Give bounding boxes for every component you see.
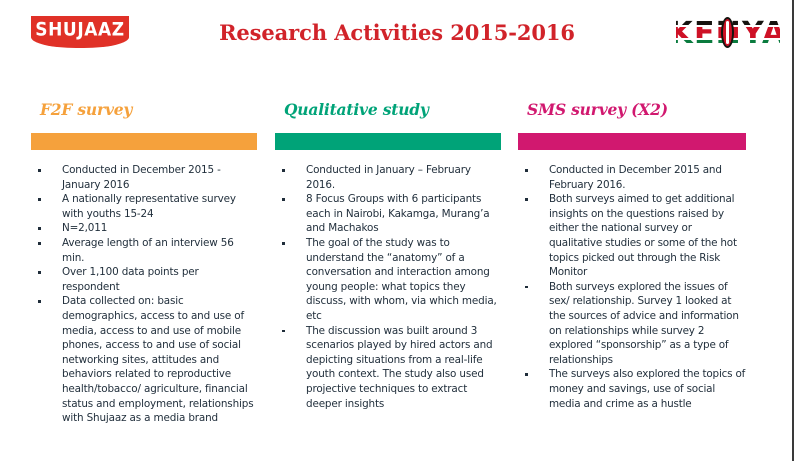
list-item: 8 Focus Groups with 6 participants each … — [275, 192, 501, 236]
list-item: Data collected on: basic demographics, a… — [31, 294, 257, 425]
list-item: The surveys also explored the topics of … — [518, 367, 746, 411]
column-bullet-list: Conducted in December 2015 and February … — [518, 163, 746, 411]
column-title: Qualitative study — [284, 100, 501, 120]
slide-canvas: SHUJAAZ Research Activities 2015-2016 KE… — [0, 0, 794, 461]
column-accent-bar — [275, 133, 501, 150]
column-accent-bar — [518, 133, 746, 150]
list-item: Both surveys explored the issues of sex/… — [518, 280, 746, 368]
list-item: Conducted in December 2015 and February … — [518, 163, 746, 192]
column-f2f-survey: F2F survey Conducted in December 2015 - … — [31, 100, 257, 426]
column-title: F2F survey — [40, 100, 257, 120]
kenya-logo: KENYA KENYA — [676, 13, 780, 51]
page-title: Research Activities 2015-2016 — [0, 20, 794, 45]
column-bullet-list: Conducted in January – February 2016. 8 … — [275, 163, 501, 411]
list-item: Average length of an interview 56 min. — [31, 236, 257, 265]
column-title: SMS survey (X2) — [527, 100, 746, 120]
list-item: N=2,011 — [31, 221, 257, 236]
list-item: Conducted in January – February 2016. — [275, 163, 501, 192]
list-item: Conducted in December 2015 - January 201… — [31, 163, 257, 192]
column-sms-survey: SMS survey (X2) Conducted in December 20… — [518, 100, 746, 411]
list-item: The goal of the study was to understand … — [275, 236, 501, 324]
column-accent-bar — [31, 133, 257, 150]
slide-header: SHUJAAZ Research Activities 2015-2016 KE… — [0, 0, 794, 74]
column-qualitative-study: Qualitative study Conducted in January –… — [275, 100, 501, 411]
column-bullet-list: Conducted in December 2015 - January 201… — [31, 163, 257, 426]
kenya-logo-text: KENYA — [676, 13, 780, 51]
list-item: The discussion was built around 3 scenar… — [275, 324, 501, 412]
list-item: Over 1,100 data points per respondent — [31, 265, 257, 294]
list-item: A nationally representative survey with … — [31, 192, 257, 221]
list-item: Both surveys aimed to get additional ins… — [518, 192, 746, 280]
